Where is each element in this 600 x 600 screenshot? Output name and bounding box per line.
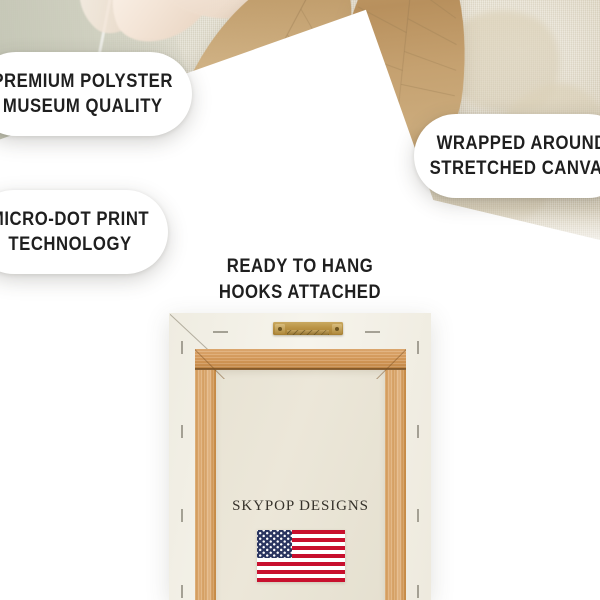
flag-canton: [257, 530, 292, 558]
feature-badge-line-2: STRETCHED CANVAS: [430, 156, 600, 181]
feature-badge-wrapped-around: WRAPPED AROUND STRETCHED CANVAS: [414, 114, 600, 198]
brand-name: SKYPOP DESIGNS: [232, 498, 369, 515]
canvas-back-view: SKYPOP DESIGNS: [169, 313, 431, 600]
staple-icon: [181, 341, 183, 354]
feature-badge-line-1: WRAPPED AROUND: [437, 131, 600, 156]
caption-line-2: HOOKS ATTACHED: [36, 280, 564, 306]
frame-miter-top-right: [376, 349, 406, 379]
leaf-vein: [411, 0, 456, 19]
staple-icon: [417, 509, 419, 522]
product-marketing-image: PREMIUM POLYSTER MUSEUM QUALITY WRAPPED …: [0, 0, 600, 600]
canvas-back-panel: SKYPOP DESIGNS: [216, 370, 385, 600]
caption-line-1: READY TO HANG: [36, 254, 564, 280]
hanger-teeth: [287, 330, 329, 335]
feature-badge-premium-polyster: PREMIUM POLYSTER MUSEUM QUALITY: [0, 52, 192, 136]
staple-icon: [181, 509, 183, 522]
staple-icon: [417, 425, 419, 438]
stretcher-frame: SKYPOP DESIGNS: [195, 349, 406, 600]
feature-badge-line-1: MICRO-DOT PRINT: [0, 207, 150, 232]
staple-icon: [181, 585, 183, 598]
ready-to-hang-caption: READY TO HANG HOOKS ATTACHED: [0, 254, 600, 306]
feature-badge-line-1: PREMIUM POLYSTER: [0, 69, 173, 94]
leaf-vein: [401, 84, 455, 96]
united-states-flag-icon: [257, 530, 345, 582]
hanger-screw-hole-right: [332, 324, 342, 334]
leaf-vein: [408, 18, 457, 44]
staple-icon: [213, 331, 228, 333]
flag-stars-row-even: [257, 530, 292, 558]
stretcher-bar-right: [385, 349, 406, 600]
stretcher-bar-top: [195, 349, 406, 370]
feature-badge-line-2: MUSEUM QUALITY: [3, 94, 163, 119]
hanger-screw-hole-left: [275, 324, 285, 334]
leaf-vein: [404, 51, 456, 71]
frame-miter-top-left: [195, 349, 225, 379]
staple-icon: [181, 425, 183, 438]
sawtooth-hanger-icon: [273, 322, 343, 335]
staple-icon: [417, 585, 419, 598]
stretcher-bar-left: [195, 349, 216, 600]
staple-icon: [365, 331, 380, 333]
staple-icon: [417, 341, 419, 354]
